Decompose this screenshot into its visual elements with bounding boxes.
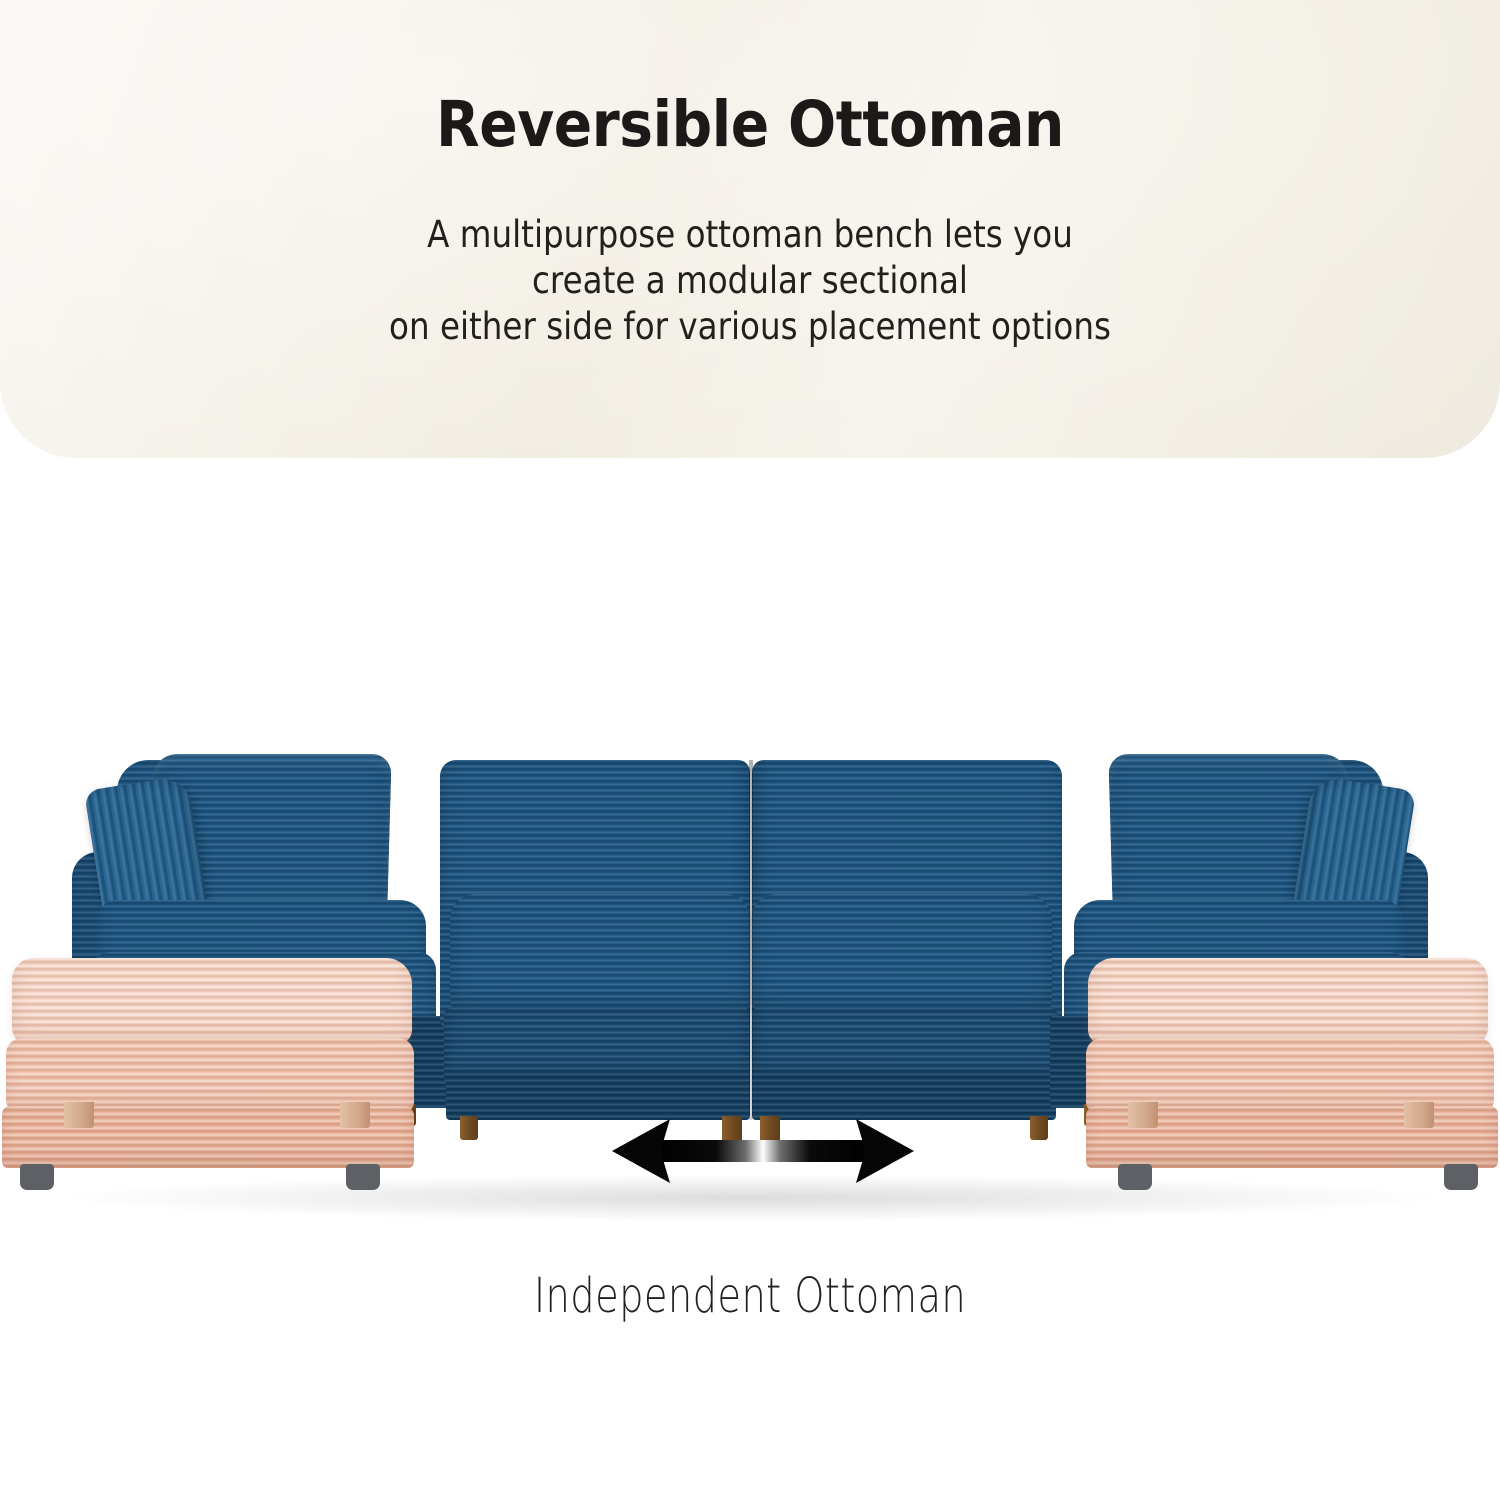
left-ottoman-leg-inner xyxy=(64,1102,94,1128)
subtitle-line-1: A multipurpose ottoman bench lets you xyxy=(90,212,1410,258)
center-right-leg-outer xyxy=(1030,1116,1048,1140)
page-title: Reversible Ottoman xyxy=(75,88,1425,161)
product-caption: Independent Ottoman xyxy=(150,1268,1350,1324)
right-ottoman-leg-inner xyxy=(1128,1102,1158,1128)
right-ottoman-top-cushion xyxy=(1088,958,1488,1044)
center-left-seat-cushion xyxy=(450,894,750,1018)
center-right-seat-deck xyxy=(752,1008,1058,1082)
center-left-leg-outer xyxy=(460,1116,478,1140)
bidirectional-arrow-icon xyxy=(608,1108,918,1194)
right-ottoman-leg-outer xyxy=(1404,1102,1434,1128)
right-ottoman-mid-band xyxy=(1086,1038,1494,1112)
center-left-seat-deck xyxy=(444,1008,750,1082)
left-ottoman-foot-left xyxy=(20,1164,54,1190)
right-ottoman-foot-left xyxy=(1118,1164,1152,1190)
left-ottoman-mid-band xyxy=(6,1038,414,1112)
page-subtitle: A multipurpose ottoman bench lets you cr… xyxy=(90,212,1410,350)
left-ottoman-top-cushion xyxy=(12,958,412,1044)
center-module-seam xyxy=(749,760,753,1120)
right-ottoman-foot-right xyxy=(1444,1164,1478,1190)
subtitle-line-2: create a modular sectional xyxy=(90,258,1410,304)
product-feature-page: Reversible Ottoman A multipurpose ottoma… xyxy=(0,0,1500,1500)
subtitle-line-3: on either side for various placement opt… xyxy=(90,304,1410,350)
left-ottoman-foot-right xyxy=(346,1164,380,1190)
center-right-seat-cushion xyxy=(752,894,1052,1018)
left-ottoman-leg-outer xyxy=(340,1102,370,1128)
